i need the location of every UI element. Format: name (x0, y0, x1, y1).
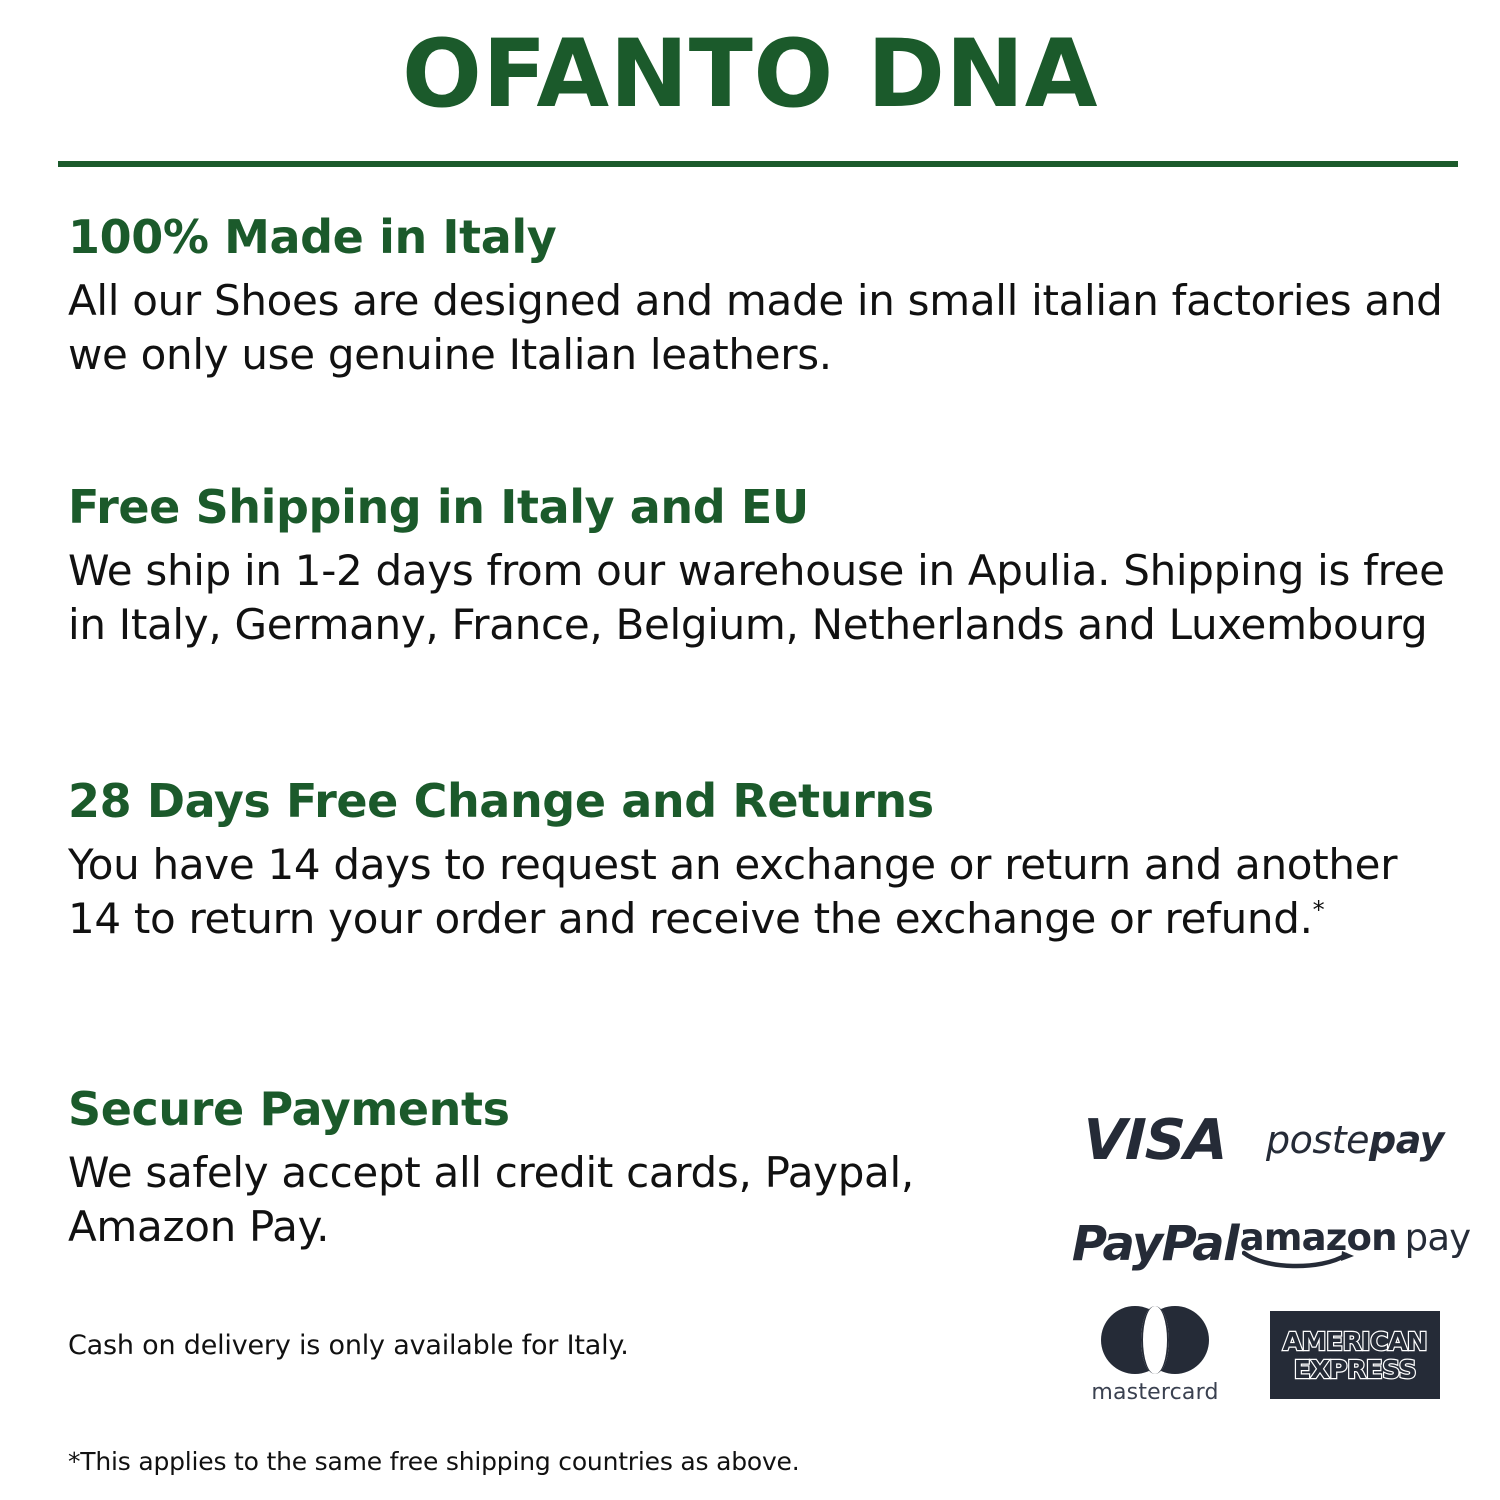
mastercard-icon: mastercard (1091, 1306, 1218, 1405)
section-heading-free-shipping: Free Shipping in Italy and EU (68, 482, 1458, 534)
mastercard-overlap-outline (1141, 1306, 1169, 1374)
note-cash-on-delivery: Cash on delivery is only available for I… (68, 1328, 629, 1363)
payment-cell-mastercard: mastercard (1055, 1296, 1255, 1414)
visa-icon: VISA (1082, 1108, 1228, 1173)
payment-row-1: VISA postepay (1055, 1088, 1455, 1192)
note-footnote: *This applies to the same free shipping … (68, 1446, 800, 1479)
returns-footnote-marker: * (1313, 896, 1325, 924)
mastercard-label: mastercard (1091, 1380, 1218, 1405)
section-returns: 28 Days Free Change and Returns You have… (68, 776, 1458, 947)
amazon-smile-arc-icon (1242, 1249, 1362, 1271)
paypal-icon: PayPal (1072, 1216, 1238, 1272)
payment-methods-grid: VISA postepay PayPal amazonpay (1055, 1088, 1455, 1414)
section-free-shipping: Free Shipping in Italy and EU We ship in… (68, 482, 1458, 653)
postepay-icon: postepay (1266, 1118, 1444, 1162)
payment-cell-postepay: postepay (1255, 1088, 1455, 1192)
section-body-returns: You have 14 days to request an exchange … (68, 838, 1458, 947)
page-title: OFANTO DNA (0, 26, 1500, 125)
postepay-label-part1: poste (1266, 1118, 1369, 1162)
amex-label-line1: AMERICAN (1283, 1329, 1427, 1354)
payment-cell-visa: VISA (1055, 1088, 1255, 1192)
payment-row-3: mastercard AMERICAN EXPRESS (1055, 1296, 1455, 1414)
payment-cell-amex: AMERICAN EXPRESS (1255, 1296, 1455, 1414)
section-secure-payments: Secure Payments We safely accept all cre… (68, 1084, 1008, 1255)
section-body-secure-payments: We safely accept all credit cards, Paypa… (68, 1146, 1008, 1255)
payment-cell-paypal: PayPal (1055, 1192, 1255, 1296)
section-heading-made-in-italy: 100% Made in Italy (68, 212, 1458, 264)
payment-cell-amazonpay: amazonpay (1255, 1192, 1455, 1296)
mastercard-circles-icon (1101, 1306, 1209, 1374)
postepay-label-part2: pay (1369, 1118, 1444, 1162)
ofanto-dna-info-panel: OFANTO DNA 100% Made in Italy All our Sh… (0, 0, 1500, 1500)
payment-row-2: PayPal amazonpay (1055, 1192, 1455, 1296)
amex-label-line2: EXPRESS (1294, 1357, 1416, 1382)
section-body-returns-text: You have 14 days to request an exchange … (68, 840, 1397, 944)
section-body-made-in-italy: All our Shoes are designed and made in s… (68, 274, 1458, 383)
american-express-icon: AMERICAN EXPRESS (1270, 1311, 1440, 1399)
section-made-in-italy: 100% Made in Italy All our Shoes are des… (68, 212, 1458, 383)
header-divider (58, 161, 1458, 167)
section-heading-returns: 28 Days Free Change and Returns (68, 776, 1458, 828)
section-heading-secure-payments: Secure Payments (68, 1084, 1008, 1136)
amazon-pay-label-part2: pay (1405, 1216, 1471, 1259)
amazon-pay-icon: amazonpay (1240, 1216, 1471, 1273)
section-body-free-shipping: We ship in 1-2 days from our warehouse i… (68, 544, 1458, 653)
